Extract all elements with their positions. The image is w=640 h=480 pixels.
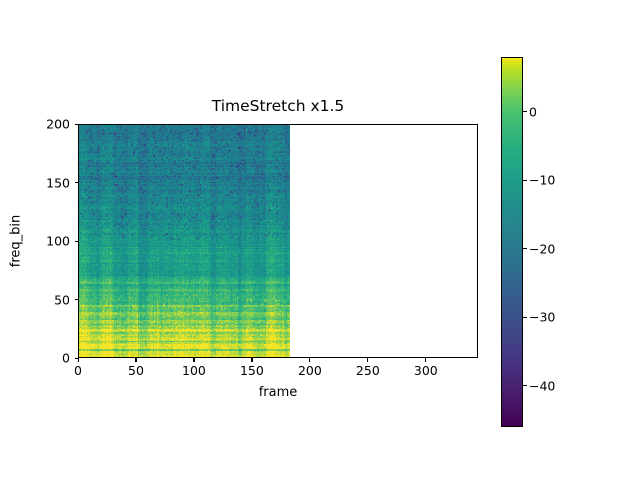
spectrogram-axes: [78, 124, 478, 358]
x-tick-mark: [251, 358, 252, 362]
x-tick-mark: [193, 358, 194, 362]
x-tick-label: 100: [182, 363, 206, 378]
x-tick-label: 50: [128, 363, 144, 378]
colorbar-tick-mark: [523, 248, 527, 249]
colorbar: [501, 57, 523, 427]
y-tick-label: 150: [46, 175, 70, 190]
y-tick-mark: [75, 358, 79, 359]
x-axis-label: frame: [78, 385, 478, 400]
colorbar-tick-mark: [523, 385, 527, 386]
spectrogram-image: [79, 125, 290, 357]
colorbar-tick-mark: [523, 111, 527, 112]
y-tick-label: 200: [46, 117, 70, 132]
y-tick-mark: [75, 299, 79, 300]
y-tick-label: 0: [62, 351, 70, 366]
colorbar-tick-label: −30: [529, 310, 555, 325]
x-tick-label: 150: [240, 363, 264, 378]
y-tick-label: 100: [46, 234, 70, 249]
y-axis-label: freq_bin: [9, 181, 24, 301]
colorbar-tick-mark: [523, 180, 527, 181]
x-tick-label: 0: [74, 363, 82, 378]
colorbar-tick-label: −40: [529, 378, 555, 393]
page-title: TimeStretch x1.5: [78, 97, 478, 115]
x-tick-mark: [367, 358, 368, 362]
y-tick-mark: [75, 241, 79, 242]
x-tick-label: 250: [356, 363, 380, 378]
colorbar-tick-label: −20: [529, 241, 555, 256]
x-tick-mark: [309, 358, 310, 362]
matplotlib-figure: TimeStretch x1.5 050100150200250300 0501…: [0, 0, 640, 480]
colorbar-tick-mark: [523, 317, 527, 318]
x-tick-mark: [135, 358, 136, 362]
colorbar-tick-label: 0: [529, 104, 537, 119]
x-tick-label: 300: [414, 363, 438, 378]
colorbar-tick-label: −10: [529, 173, 555, 188]
y-tick-label: 50: [54, 292, 70, 307]
y-tick-mark: [75, 182, 79, 183]
x-tick-mark: [425, 358, 426, 362]
y-tick-mark: [75, 124, 79, 125]
x-tick-label: 200: [298, 363, 322, 378]
